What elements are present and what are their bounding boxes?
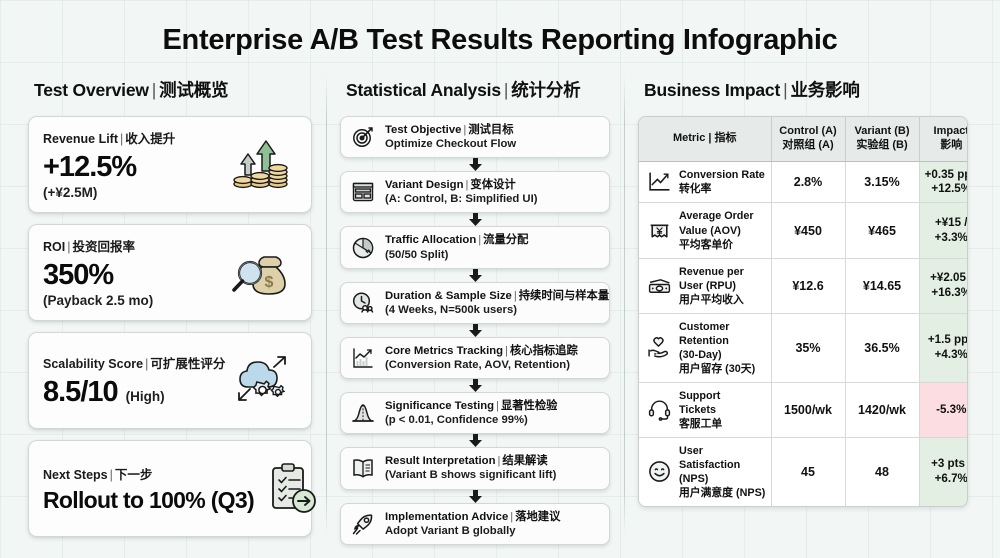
flow-step-duration-sample-size[interactable]: Duration & Sample Size|持续时间与样本量 (4 Weeks… xyxy=(340,282,610,324)
metric-inner: User Satisfaction (NPS) 用户满意度 (NPS) xyxy=(646,444,766,500)
flow-text: Duration & Sample Size|持续时间与样本量 (4 Weeks… xyxy=(385,289,600,317)
flow-text: Implementation Advice|落地建议 Adopt Variant… xyxy=(385,510,600,538)
business-impact-table-wrapper: Metric | 指标 Control (A) 对照组 (A) Variant … xyxy=(638,116,968,507)
metric-line: 客服工单 xyxy=(679,417,722,431)
metric-line: Tickets xyxy=(679,403,722,417)
table-row[interactable]: Customer Retention (30-Day) 用户留存 (30天) 3… xyxy=(639,313,968,382)
kpi-sub: (High) xyxy=(126,389,165,404)
metric-line: Average Order xyxy=(679,209,754,223)
control-value: ¥450 xyxy=(771,203,845,258)
flow-text: Test Objective|测试目标 Optimize Checkout Fl… xyxy=(385,123,600,151)
kpi-label: Next Steps|下一步 xyxy=(43,464,254,483)
heading-zh: 测试概览 xyxy=(159,80,228,100)
metric-line: Value (AOV) xyxy=(679,224,754,238)
kpi-value: 8.5/10 xyxy=(43,377,118,407)
header-line-1: Metric | 指标 xyxy=(643,132,767,146)
metric-line: 用户平均收入 xyxy=(679,293,744,307)
flow-step-core-metrics-tracking[interactable]: Core Metrics Tracking|核心指标追踪 (Conversion… xyxy=(340,337,610,379)
clipboard-arrow-icon xyxy=(254,452,326,524)
cloud-gears-icon xyxy=(225,344,297,416)
metric-line: User (RPU) xyxy=(679,279,744,293)
kpi-card-next-steps[interactable]: Next Steps|下一步 Rollout to 100% (Q3) xyxy=(28,440,312,537)
rocket-icon xyxy=(350,511,376,537)
heading-separator: | xyxy=(780,80,790,100)
kpi-text: Scalability Score|可扩展性评分 8.5/10 (High) xyxy=(43,353,225,407)
kpi-sub: (Payback 2.5 mo) xyxy=(43,293,225,308)
flow-title-en: Significance Testing xyxy=(385,400,494,412)
table-header-row: Metric | 指标 Control (A) 对照组 (A) Variant … xyxy=(639,117,968,161)
statistical-analysis-column: Statistical Analysis|统计分析 Test Objective… xyxy=(326,71,624,541)
kpi-label-separator: | xyxy=(108,468,115,482)
header-line-1: Variant (B) xyxy=(850,125,915,139)
flow-title-zh: 变体设计 xyxy=(470,179,515,191)
table-row[interactable]: User Satisfaction (NPS) 用户满意度 (NPS) 45 4… xyxy=(639,437,968,506)
column-header-variant: Variant (B) 实验组 (B) xyxy=(845,117,919,161)
flow-separator: | xyxy=(494,400,501,412)
heading-en: Business Impact xyxy=(644,80,780,100)
flow-title-en: Variant Design xyxy=(385,179,463,191)
flow-title-zh: 核心指标追踪 xyxy=(510,345,578,357)
flow-arrow-down-icon xyxy=(340,213,610,226)
flow-step-test-objective[interactable]: Test Objective|测试目标 Optimize Checkout Fl… xyxy=(340,116,610,158)
coins-growth-arrows-icon xyxy=(225,128,297,200)
kpi-text: Revenue Lift|收入提升 +12.5% (+¥2.5M) xyxy=(43,128,225,199)
flow-step-result-interpretation[interactable]: Result Interpretation|结果解读 (Variant B sh… xyxy=(340,447,610,489)
metric-inner: Conversion Rate 转化率 xyxy=(646,168,766,196)
svg-text:$: $ xyxy=(265,274,274,291)
kpi-label-zh: 下一步 xyxy=(115,468,153,482)
kpi-label: Revenue Lift|收入提升 xyxy=(43,128,225,147)
flow-title: Duration & Sample Size|持续时间与样本量 xyxy=(385,289,600,303)
bar-chart-trend-icon xyxy=(350,345,376,371)
flow-title-en: Duration & Sample Size xyxy=(385,290,512,302)
flow-sub: (p < 0.01, Confidence 99%) xyxy=(385,413,600,427)
business-impact-table: Metric | 指标 Control (A) 对照组 (A) Variant … xyxy=(639,117,968,506)
flow-text: Traffic Allocation|流量分配 (50/50 Split) xyxy=(385,233,600,261)
clock-users-icon xyxy=(350,290,376,316)
flow-sub: (4 Weeks, N=500k users) xyxy=(385,303,600,317)
flow-arrow-down-icon xyxy=(340,379,610,392)
metric-cell: Conversion Rate 转化率 xyxy=(639,161,771,203)
flow-sub: (50/50 Split) xyxy=(385,248,600,262)
kpi-label-en: Revenue Lift xyxy=(43,132,118,146)
flow-title: Significance Testing|显著性检验 xyxy=(385,399,600,413)
flow-title: Result Interpretation|结果解读 xyxy=(385,454,600,468)
flow-sub: Adopt Variant B globally xyxy=(385,524,600,538)
header-line-1: Control (A) xyxy=(776,125,841,139)
header-line-2: 影响 xyxy=(924,139,969,153)
control-value: 2.8% xyxy=(771,161,845,203)
kpi-label-zh: 可扩展性评分 xyxy=(150,357,225,371)
test-overview-column: Test Overview|测试概览 Revenue Lift|收入提升 +12… xyxy=(14,71,326,541)
metric-line: User Satisfaction xyxy=(679,444,766,472)
infographic-page: Enterprise A/B Test Results Reporting In… xyxy=(0,0,1000,558)
headset-icon xyxy=(646,397,672,423)
flow-sub: (Variant B shows significant lift) xyxy=(385,468,600,482)
flow-step-implementation-advice[interactable]: Implementation Advice|落地建议 Adopt Variant… xyxy=(340,503,610,545)
heading-zh: 业务影响 xyxy=(790,80,859,100)
test-overview-heading: Test Overview|测试概览 xyxy=(34,77,312,102)
column-header-metric: Metric | 指标 xyxy=(639,117,771,161)
metric-line: 平均客单价 xyxy=(679,238,754,252)
control-value: 1500/wk xyxy=(771,382,845,437)
flow-separator: | xyxy=(512,290,519,302)
metric-line: Revenue per xyxy=(679,265,744,279)
money-bag-magnifier-icon: $ xyxy=(225,236,297,308)
kpi-value: +12.5% xyxy=(43,152,225,182)
metric-inner: Support Tickets 客服工单 xyxy=(646,389,766,431)
flow-title-zh: 结果解读 xyxy=(502,455,547,467)
receipt-yen-icon xyxy=(646,218,672,244)
kpi-text: Next Steps|下一步 Rollout to 100% (Q3) xyxy=(43,464,254,512)
banknotes-icon xyxy=(646,273,672,299)
flow-sub: Optimize Checkout Flow xyxy=(385,137,600,151)
impact-value: +0.35 pp / +12.5% xyxy=(919,161,968,203)
variant-value: 36.5% xyxy=(845,313,919,382)
variant-value: 3.15% xyxy=(845,161,919,203)
impact-value: +¥2.05 / +16.3% xyxy=(919,258,968,313)
bell-curve-icon xyxy=(350,400,376,426)
kpi-text: ROI|投资回报率 350% (Payback 2.5 mo) xyxy=(43,236,225,307)
metric-names: Support Tickets 客服工单 xyxy=(679,389,722,431)
kpi-label: ROI|投资回报率 xyxy=(43,236,225,255)
heading-en: Statistical Analysis xyxy=(346,80,501,100)
kpi-label-zh: 收入提升 xyxy=(125,132,175,146)
smiley-face-icon xyxy=(646,459,672,485)
flow-title: Implementation Advice|落地建议 xyxy=(385,510,600,524)
variant-value: ¥465 xyxy=(845,203,919,258)
flow-title: Variant Design|变体设计 xyxy=(385,178,600,192)
control-value: ¥12.6 xyxy=(771,258,845,313)
business-impact-heading: Business Impact|业务影响 xyxy=(644,77,968,102)
metric-names: Revenue per User (RPU) 用户平均收入 xyxy=(679,265,744,307)
flow-title-en: Core Metrics Tracking xyxy=(385,345,503,357)
metric-line: Support xyxy=(679,389,722,403)
table-body: Conversion Rate 转化率 2.8% 3.15% +0.35 pp … xyxy=(639,161,968,506)
variant-value: 1420/wk xyxy=(845,382,919,437)
impact-value: -5.3% xyxy=(919,382,968,437)
kpi-label-zh: 投资回报率 xyxy=(72,240,135,254)
heading-zh: 统计分析 xyxy=(511,80,580,100)
metric-cell: Support Tickets 客服工单 xyxy=(639,382,771,437)
metric-line: 用户留存 (30天) xyxy=(679,362,755,376)
metric-names: Conversion Rate 转化率 xyxy=(679,168,765,196)
kpi-value: Rollout to 100% (Q3) xyxy=(43,488,254,512)
metric-inner: Revenue per User (RPU) 用户平均收入 xyxy=(646,265,766,307)
metric-line: 转化率 xyxy=(679,182,765,196)
kpi-label-en: Next Steps xyxy=(43,468,108,482)
table-head: Metric | 指标 Control (A) 对照组 (A) Variant … xyxy=(639,117,968,161)
control-value: 45 xyxy=(771,437,845,506)
flow-title: Traffic Allocation|流量分配 xyxy=(385,233,600,247)
metric-inner: Average Order Value (AOV) 平均客单价 xyxy=(646,209,766,251)
business-impact-column: Business Impact|业务影响 Metric | 指标 Control… xyxy=(624,71,982,541)
control-value: 35% xyxy=(771,313,845,382)
flow-separator: | xyxy=(503,345,510,357)
kpi-sub: (+¥2.5M) xyxy=(43,185,225,200)
metric-inner: Customer Retention (30-Day) 用户留存 (30天) xyxy=(646,320,766,376)
kpi-label-en: Scalability Score xyxy=(43,357,143,371)
flow-sub: (Conversion Rate, AOV, Retention) xyxy=(385,358,600,372)
flow-title-zh: 持续时间与样本量 xyxy=(519,290,609,302)
flow-text: Variant Design|变体设计 (A: Control, B: Simp… xyxy=(385,178,600,206)
variant-value: 48 xyxy=(845,437,919,506)
flow-step-variant-design[interactable]: Variant Design|变体设计 (A: Control, B: Simp… xyxy=(340,171,610,213)
header-line-2: 对照组 (A) xyxy=(776,139,841,153)
heading-separator: | xyxy=(149,80,159,100)
flow-title-zh: 显著性检验 xyxy=(501,400,558,412)
metric-names: User Satisfaction (NPS) 用户满意度 (NPS) xyxy=(679,444,766,500)
flow-title-en: Traffic Allocation xyxy=(385,234,476,246)
variant-value: ¥14.65 xyxy=(845,258,919,313)
metric-cell: User Satisfaction (NPS) 用户满意度 (NPS) xyxy=(639,437,771,506)
kpi-label: Scalability Score|可扩展性评分 xyxy=(43,353,225,372)
column-header-impact: Impact 影响 xyxy=(919,117,968,161)
flow-arrow-down-icon xyxy=(340,434,610,447)
flow-arrow-down-icon xyxy=(340,269,610,282)
flow-arrow-down-icon xyxy=(340,158,610,171)
wireframe-icon xyxy=(350,179,376,205)
metric-line: Customer xyxy=(679,320,755,334)
column-header-control: Control (A) 对照组 (A) xyxy=(771,117,845,161)
flow-step-significance-testing[interactable]: Significance Testing|显著性检验 (p < 0.01, Co… xyxy=(340,392,610,434)
header-line-1: Impact xyxy=(924,125,969,139)
flow-step-traffic-allocation[interactable]: Traffic Allocation|流量分配 (50/50 Split) xyxy=(340,226,610,268)
metric-names: Average Order Value (AOV) 平均客单价 xyxy=(679,209,754,251)
pie-chart-icon xyxy=(350,235,376,261)
impact-value: +1.5 pp / +4.3% xyxy=(919,313,968,382)
flow-title-en: Test Objective xyxy=(385,124,461,136)
flow-title-zh: 落地建议 xyxy=(515,511,560,523)
statistical-analysis-heading: Statistical Analysis|统计分析 xyxy=(346,77,610,102)
metric-line: 用户满意度 (NPS) xyxy=(679,486,766,500)
metric-line: (30-Day) xyxy=(679,348,755,362)
table-row[interactable]: Average Order Value (AOV) 平均客单价 ¥450 ¥46… xyxy=(639,203,968,258)
impact-value: +3 pts / +6.7% xyxy=(919,437,968,506)
metric-line: Retention xyxy=(679,334,755,348)
flow-title-zh: 测试目标 xyxy=(468,124,513,136)
metric-line: Conversion Rate xyxy=(679,168,765,182)
metric-cell: Average Order Value (AOV) 平均客单价 xyxy=(639,203,771,258)
flow-text: Significance Testing|显著性检验 (p < 0.01, Co… xyxy=(385,399,600,427)
kpi-card-revenue-lift[interactable]: Revenue Lift|收入提升 +12.5% (+¥2.5M) xyxy=(28,116,312,213)
target-icon xyxy=(350,124,376,150)
flow-title-en: Result Interpretation xyxy=(385,455,495,467)
line-chart-up-icon xyxy=(646,169,672,195)
page-title: Enterprise A/B Test Results Reporting In… xyxy=(0,0,1000,71)
kpi-label-en: ROI xyxy=(43,240,65,254)
open-book-icon xyxy=(350,455,376,481)
kpi-value-row: 8.5/10 (High) xyxy=(43,377,225,407)
heart-hand-icon xyxy=(646,335,672,361)
flow-title: Test Objective|测试目标 xyxy=(385,123,600,137)
metric-names: Customer Retention (30-Day) 用户留存 (30天) xyxy=(679,320,755,376)
header-line-2: 实验组 (B) xyxy=(850,139,915,153)
flow-sub: (A: Control, B: Simplified UI) xyxy=(385,192,600,206)
flow-arrow-down-icon xyxy=(340,324,610,337)
table-row[interactable]: Conversion Rate 转化率 2.8% 3.15% +0.35 pp … xyxy=(639,161,968,203)
flow-title-en: Implementation Advice xyxy=(385,511,508,523)
heading-separator: | xyxy=(501,80,511,100)
metric-line: (NPS) xyxy=(679,472,766,486)
flow-text: Result Interpretation|结果解读 (Variant B sh… xyxy=(385,454,600,482)
metric-cell: Customer Retention (30-Day) 用户留存 (30天) xyxy=(639,313,771,382)
flow-arrow-down-icon xyxy=(340,490,610,503)
kpi-card-scalability-score[interactable]: Scalability Score|可扩展性评分 8.5/10 (High) xyxy=(28,332,312,429)
metric-cell: Revenue per User (RPU) 用户平均收入 xyxy=(639,258,771,313)
flow-text: Core Metrics Tracking|核心指标追踪 (Conversion… xyxy=(385,344,600,372)
flow-title: Core Metrics Tracking|核心指标追踪 xyxy=(385,344,600,358)
columns-container: Test Overview|测试概览 Revenue Lift|收入提升 +12… xyxy=(0,71,1000,541)
table-row[interactable]: Support Tickets 客服工单 1500/wk 1420/wk -5.… xyxy=(639,382,968,437)
kpi-value: 350% xyxy=(43,260,225,290)
heading-en: Test Overview xyxy=(34,80,149,100)
table-row[interactable]: Revenue per User (RPU) 用户平均收入 ¥12.6 ¥14.… xyxy=(639,258,968,313)
impact-value: +¥15 / +3.3% xyxy=(919,203,968,258)
kpi-card-roi[interactable]: ROI|投资回报率 350% (Payback 2.5 mo) $ xyxy=(28,224,312,321)
flow-title-zh: 流量分配 xyxy=(483,234,528,246)
